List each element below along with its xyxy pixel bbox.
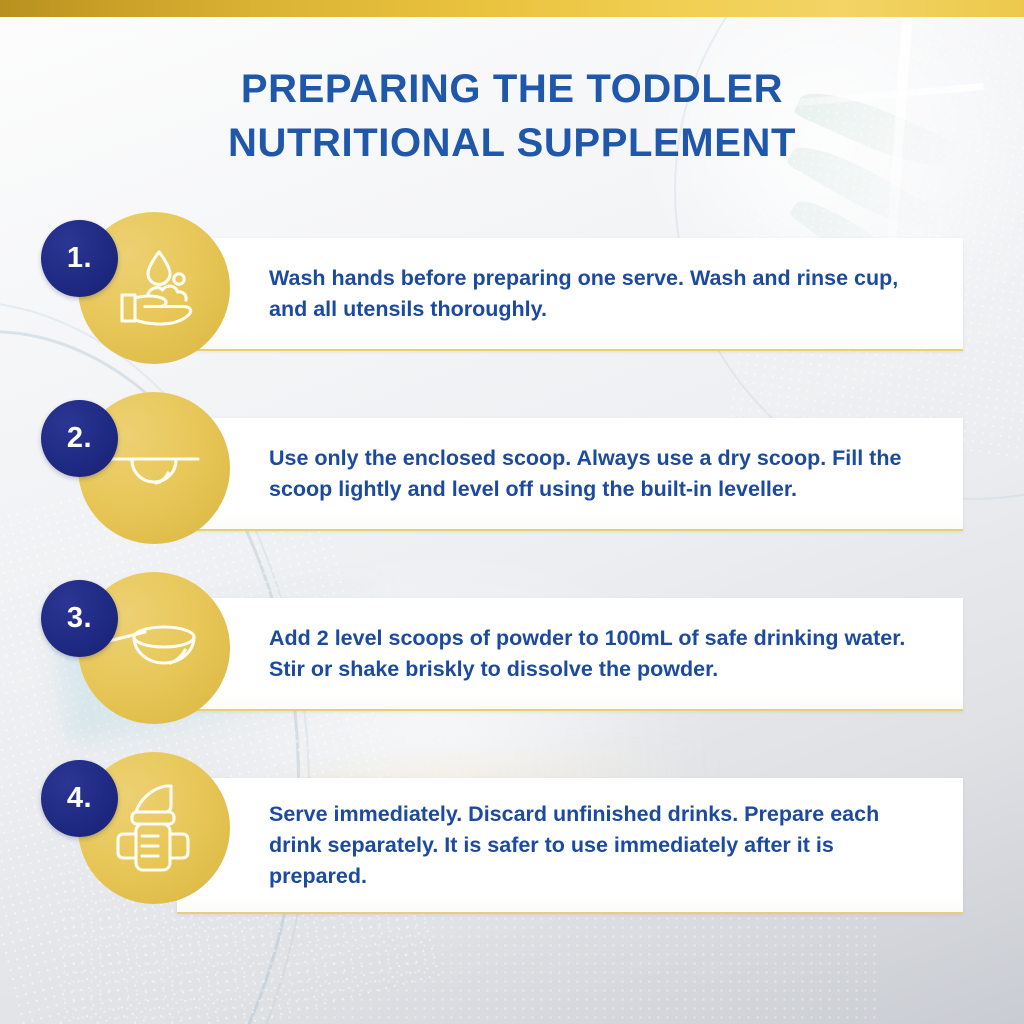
step-text-1: Wash hands before preparing one serve. W…	[177, 263, 963, 325]
step-card-2: Use only the enclosed scoop. Always use …	[177, 418, 963, 531]
steps-list: Wash hands before preparing one serve. W…	[0, 0, 1024, 1024]
step-card-3: Add 2 level scoops of powder to 100mL of…	[177, 598, 963, 711]
step-badge-1: 1.	[41, 220, 118, 297]
step-number-1: 1.	[67, 242, 92, 275]
sippy-cup-icon	[106, 778, 202, 878]
step-number-3: 3.	[67, 602, 92, 635]
step-badge-4: 4.	[41, 760, 118, 837]
step-text-3: Add 2 level scoops of powder to 100mL of…	[177, 623, 963, 685]
step-text-2: Use only the enclosed scoop. Always use …	[177, 443, 963, 505]
step-text-4: Serve immediately. Discard unfinished dr…	[177, 799, 963, 892]
step-badge-2: 2.	[41, 400, 118, 477]
step-badge-3: 3.	[41, 580, 118, 657]
infographic-poster: PREPARING THE TODDLER NUTRITIONAL SUPPLE…	[0, 0, 1024, 1024]
step-card-1: Wash hands before preparing one serve. W…	[177, 238, 963, 351]
step-card-4: Serve immediately. Discard unfinished dr…	[177, 778, 963, 914]
hand-wash-icon	[104, 242, 204, 334]
step-number-4: 4.	[67, 782, 92, 815]
step-number-2: 2.	[67, 422, 92, 455]
